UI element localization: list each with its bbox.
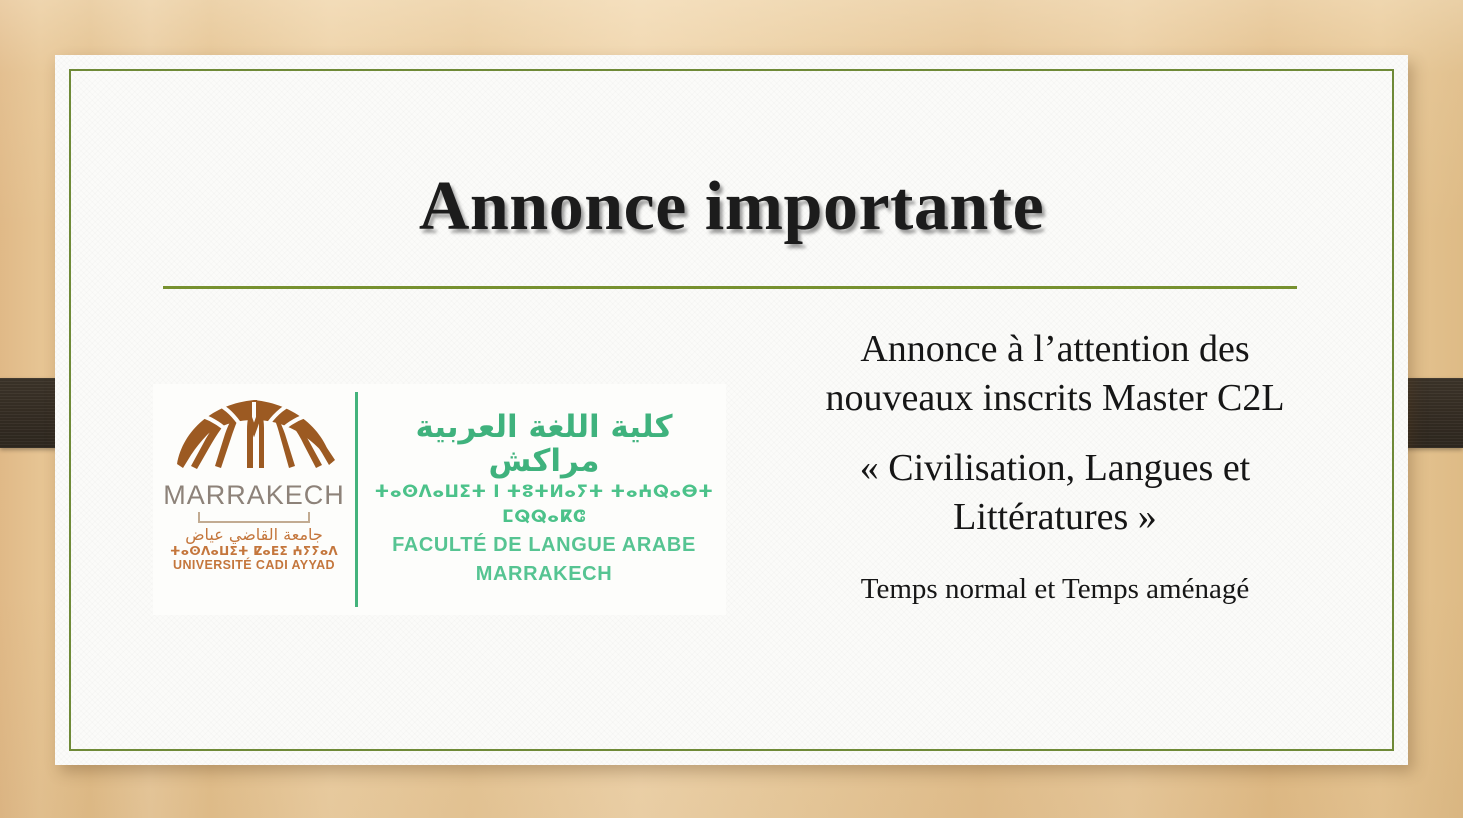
announcement-line-5: Temps normal et Temps aménagé <box>755 571 1355 609</box>
faculty-logo: MARRAKECH جامعة القاضي عياض ⵜⴰⵙⴷⴰⵡⵉⵜ ⵇⴰⴹ… <box>153 384 726 615</box>
announcement-text-block: Annonce à l’attention des nouveaux inscr… <box>755 325 1355 608</box>
faculty-arabic-line-1: كلية اللغة العربية <box>415 411 672 444</box>
announcement-line-1: Annonce à l’attention des <box>755 325 1355 374</box>
university-tifinagh-name: ⵜⴰⵙⴷⴰⵡⵉⵜ ⵇⴰⴹⵉ ⵄⵢⵢⴰⴷ <box>170 544 338 558</box>
university-arabic-name: جامعة القاضي عياض <box>185 527 323 544</box>
title-divider <box>163 286 1297 289</box>
faculty-tifinagh-line-1: ⵜⴰⵙⴷⴰⵡⵉⵜ ⵏ ⵜⵓⵜⵍⴰⵢⵜ ⵜⴰⵄⵕⴰⴱⵜ <box>375 483 714 503</box>
page-title: Annonce importante <box>55 170 1408 244</box>
faculty-french-line-2: MARRAKECH <box>476 563 613 586</box>
presentation-slide: Annonce importante <box>0 0 1463 818</box>
announcement-line-4: Littératures » <box>755 493 1355 542</box>
palm-fan-icon <box>169 390 339 482</box>
faculty-arabic-line-2: مراكش <box>489 445 600 478</box>
faculty-french-line-1: FACULTÉ DE LANGUE ARABE <box>392 534 696 557</box>
wordmark-bracket <box>198 512 310 523</box>
text-spacer <box>755 424 1355 444</box>
announcement-line-3: « Civilisation, Langues et <box>755 444 1355 493</box>
university-wordmark: MARRAKECH <box>163 482 345 509</box>
faculty-tifinagh-line-2: ⵎⵕⵕⴰⴽⵛ <box>502 508 586 528</box>
university-logo-section: MARRAKECH جامعة القاضي عياض ⵜⴰⵙⴷⴰⵡⵉⵜ ⵇⴰⴹ… <box>153 384 355 615</box>
university-french-name: UNIVERSITÉ CADI AYYAD <box>173 558 335 573</box>
slide-card: Annonce importante <box>55 55 1408 765</box>
announcement-line-2: nouveaux inscrits Master C2L <box>755 374 1355 423</box>
faculty-logo-section: كلية اللغة العربية مراكش ⵜⴰⵙⴷⴰⵡⵉⵜ ⵏ ⵜⵓⵜⵍ… <box>368 384 726 615</box>
logo-divider <box>355 392 358 607</box>
